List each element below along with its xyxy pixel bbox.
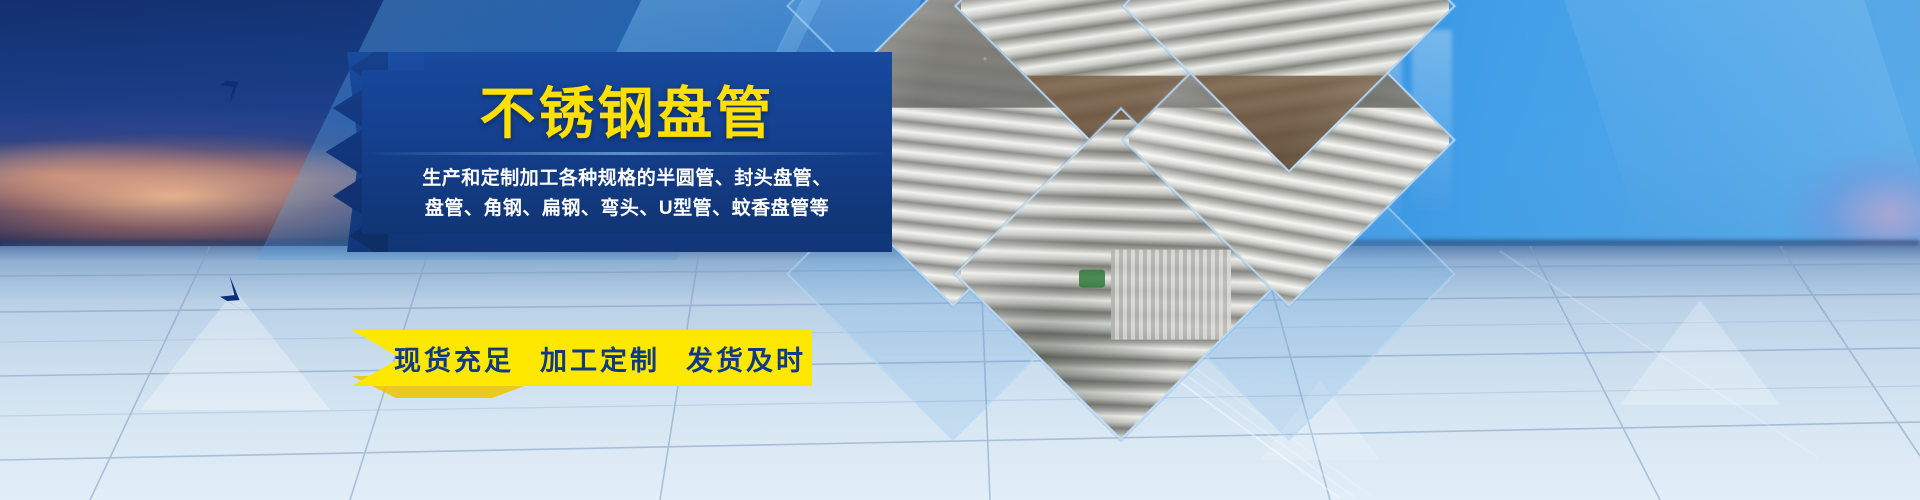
product-photo-collage [835, 0, 1290, 410]
feature-item-3: 发货及时 [686, 339, 806, 378]
feature-item-2: 加工定制 [540, 339, 660, 378]
feature-list: 现货充足 加工定制 发货及时 [352, 330, 812, 386]
page-title: 不锈钢盘管 [362, 86, 892, 142]
panel-sheen [362, 152, 892, 155]
subtitle-line-1: 生产和定制加工各种规格的半圆管、封头盘管、 [362, 164, 892, 194]
headline-panel: 不锈钢盘管 生产和定制加工各种规格的半圆管、封头盘管、 盘管、角钢、扁钢、弯头、… [252, 52, 892, 252]
decor-triangle [1620, 300, 1780, 405]
green-marker [1079, 270, 1105, 288]
product-hero-banner: 不锈钢盘管 生产和定制加工各种规格的半圆管、封头盘管、 盘管、角钢、扁钢、弯头、… [0, 0, 1920, 500]
coil-tank [1111, 250, 1231, 340]
subtitle-block: 生产和定制加工各种规格的半圆管、封头盘管、 盘管、角钢、扁钢、弯头、U型管、蚊香… [362, 164, 892, 224]
subtitle-line-2: 盘管、角钢、扁钢、弯头、U型管、蚊香盘管等 [362, 194, 892, 224]
feature-ribbon: 现货充足 加工定制 发货及时 [352, 330, 812, 392]
feature-item-1: 现货充足 [394, 339, 514, 378]
